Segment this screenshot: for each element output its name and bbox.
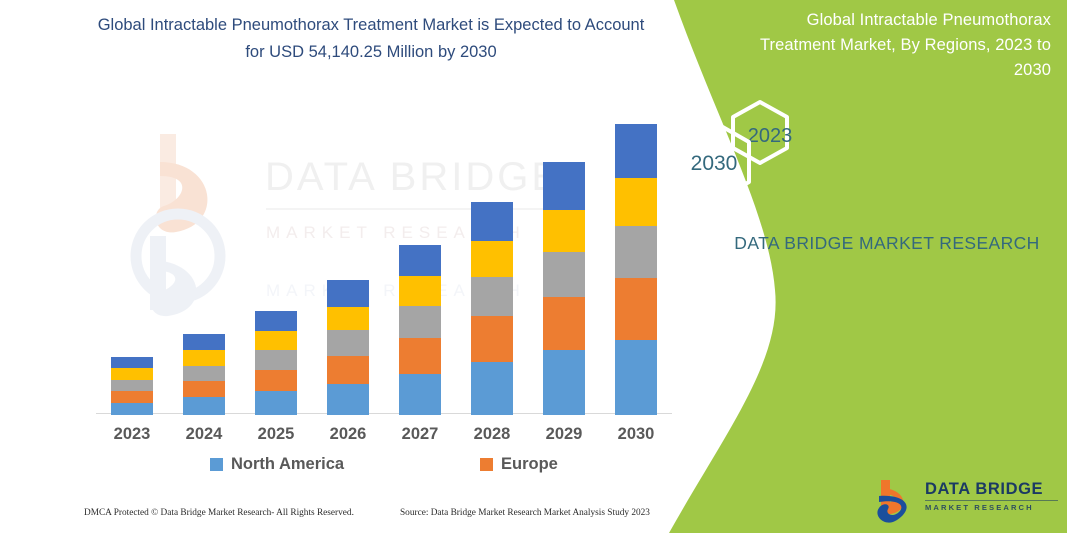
stacked-bar-chart bbox=[96, 130, 672, 415]
page-title: Global Intractable Pneumothorax Treatmen… bbox=[86, 12, 656, 66]
bar-segment bbox=[255, 350, 297, 370]
bar-segment bbox=[543, 350, 585, 415]
logo-text: DATA BRIDGE MARKET RESEARCH bbox=[925, 480, 1060, 512]
bar-segment bbox=[111, 403, 153, 415]
bar-2029 bbox=[543, 162, 585, 415]
data-bridge-logo: DATA BRIDGE MARKET RESEARCH bbox=[873, 478, 1058, 524]
bar-segment bbox=[111, 357, 153, 368]
bar-segment bbox=[471, 316, 513, 362]
x-label-2028: 2028 bbox=[456, 425, 528, 444]
bar-segment bbox=[471, 202, 513, 241]
footer-copyright: DMCA Protected © Data Bridge Market Rese… bbox=[84, 508, 354, 518]
bar-segment bbox=[183, 397, 225, 415]
panel-brand: DATA BRIDGE MARKET RESEARCH bbox=[647, 228, 1067, 258]
bar-segment bbox=[111, 368, 153, 379]
bar-segment bbox=[183, 381, 225, 397]
bar-segment bbox=[183, 366, 225, 381]
bar-2025 bbox=[255, 311, 297, 416]
x-label-2029: 2029 bbox=[528, 425, 600, 444]
legend-swatch-icon bbox=[480, 458, 493, 471]
bar-segment bbox=[543, 252, 585, 298]
bar-segment bbox=[471, 362, 513, 415]
x-label-2023: 2023 bbox=[96, 425, 168, 444]
bar-segment bbox=[255, 331, 297, 350]
bar-segment bbox=[327, 330, 369, 356]
bar-segment bbox=[399, 338, 441, 374]
bar-segment bbox=[111, 380, 153, 391]
logo-divider bbox=[925, 500, 1058, 501]
bar-segment bbox=[183, 350, 225, 365]
bar-segment bbox=[543, 162, 585, 210]
x-label-2024: 2024 bbox=[168, 425, 240, 444]
bar-segment bbox=[327, 280, 369, 307]
bar-segment bbox=[327, 356, 369, 384]
hexagon-badges: 2023 2030 bbox=[647, 96, 1067, 206]
hexagon-2030-label: 2030 bbox=[691, 152, 738, 175]
bar-segment bbox=[399, 306, 441, 338]
bar-segment bbox=[255, 391, 297, 415]
logo-name: DATA BRIDGE bbox=[925, 480, 1060, 499]
bar-segment bbox=[111, 391, 153, 402]
hexagon-2023-label: 2023 bbox=[748, 125, 793, 147]
bar-segment bbox=[399, 276, 441, 305]
bar-segment bbox=[399, 374, 441, 415]
bar-segment bbox=[543, 297, 585, 350]
bar-segment bbox=[327, 384, 369, 415]
x-label-2027: 2027 bbox=[384, 425, 456, 444]
bar-segment bbox=[183, 334, 225, 350]
panel-title: Global Intractable Pneumothorax Treatmen… bbox=[751, 8, 1051, 83]
legend-item[interactable]: North America bbox=[210, 455, 344, 474]
x-label-2025: 2025 bbox=[240, 425, 312, 444]
chart-legend: North AmericaEurope bbox=[96, 455, 672, 483]
bar-segment bbox=[255, 370, 297, 391]
bar-segment bbox=[399, 245, 441, 276]
logo-tagline: MARKET RESEARCH bbox=[925, 503, 1060, 512]
legend-label: North America bbox=[231, 455, 344, 474]
footer-source: Source: Data Bridge Market Research Mark… bbox=[400, 508, 650, 518]
legend-item[interactable]: Europe bbox=[480, 455, 558, 474]
bar-segment bbox=[471, 277, 513, 316]
logo-mark-icon bbox=[873, 478, 919, 524]
bar-segment bbox=[327, 307, 369, 331]
footer: DMCA Protected © Data Bridge Market Rese… bbox=[0, 508, 700, 528]
bar-2027 bbox=[399, 245, 441, 415]
bar-segment bbox=[471, 241, 513, 277]
x-label-2026: 2026 bbox=[312, 425, 384, 444]
bar-2023 bbox=[111, 357, 153, 415]
bar-segment bbox=[543, 210, 585, 252]
x-axis-labels: 20232024202520262027202820292030 bbox=[96, 425, 672, 453]
legend-swatch-icon bbox=[210, 458, 223, 471]
bar-2024 bbox=[183, 334, 225, 415]
bar-segment bbox=[255, 311, 297, 332]
infographic-canvas: Global Intractable Pneumothorax Treatmen… bbox=[0, 0, 1067, 533]
bar-2028 bbox=[471, 202, 513, 415]
legend-label: Europe bbox=[501, 455, 558, 474]
bar-2026 bbox=[327, 280, 369, 415]
